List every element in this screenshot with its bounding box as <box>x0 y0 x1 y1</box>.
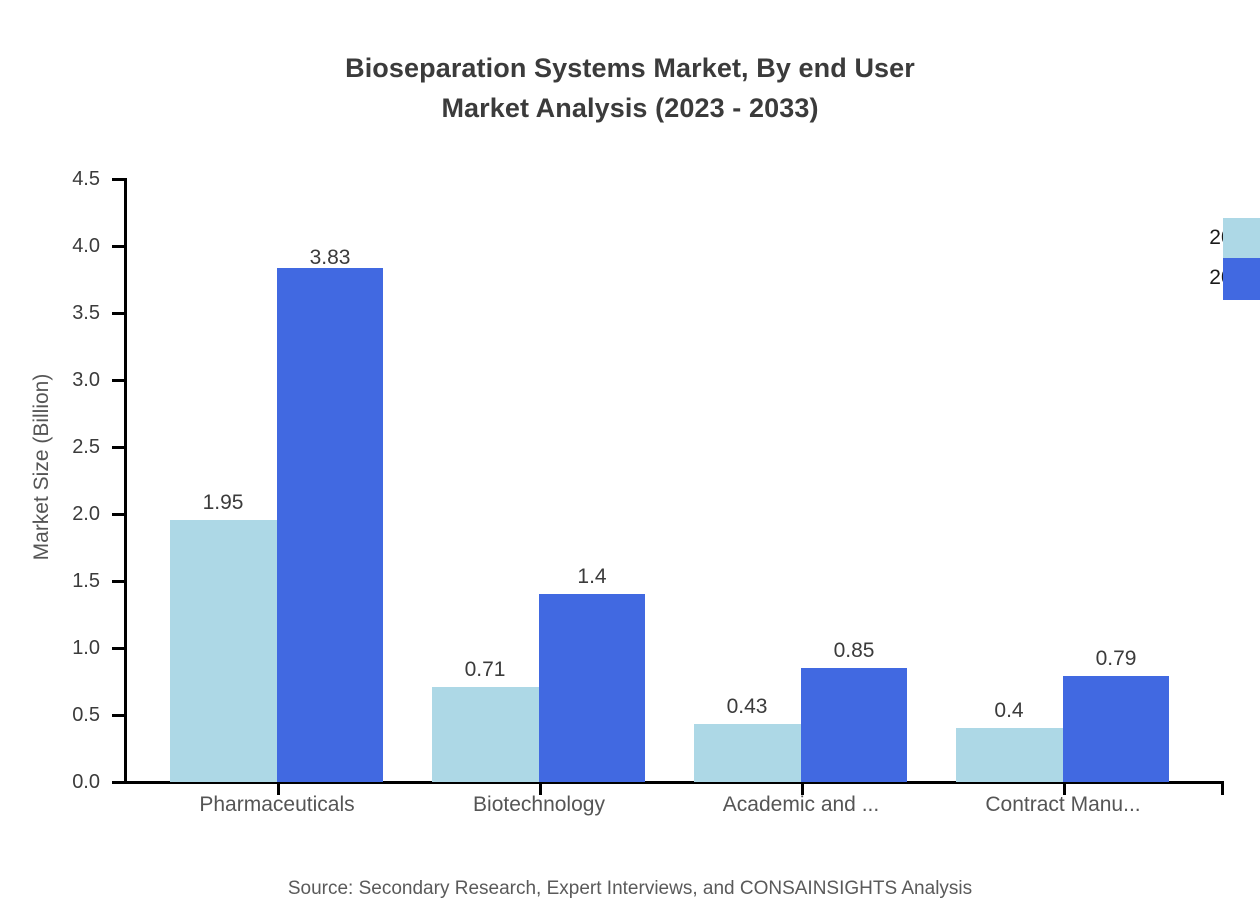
bar-2033-academic[interactable] <box>801 668 907 782</box>
y-tick-label-7: 3.5 <box>10 303 100 323</box>
legend-swatch-2033 <box>1223 258 1260 300</box>
bar-value-2033-pharmaceuticals: 3.83 <box>276 246 384 270</box>
y-tick-label-0: 0.0 <box>10 772 100 792</box>
bar-2023-contract-manufacturing[interactable] <box>956 728 1063 782</box>
bar-2023-pharmaceuticals[interactable] <box>170 520 277 782</box>
y-tick-label-6: 3.0 <box>10 370 100 390</box>
bar-2023-biotechnology[interactable] <box>432 687 539 782</box>
bar-2033-pharmaceuticals[interactable] <box>277 268 383 782</box>
chart-title-line-1: Bioseparation Systems Market, By end Use… <box>0 48 1260 88</box>
bar-value-2033-biotechnology: 1.4 <box>538 565 646 589</box>
x-tick-label-contract-manufacturing: Contract Manu... <box>903 793 1223 817</box>
bar-value-2023-biotechnology: 0.71 <box>431 658 539 682</box>
y-tick-label-9: 4.5 <box>10 169 100 189</box>
chart-title-line-2: Market Analysis (2023 - 2033) <box>0 88 1260 128</box>
bar-value-2033-contract-manufacturing: 0.79 <box>1062 647 1170 671</box>
bar-2033-contract-manufacturing[interactable] <box>1063 676 1169 782</box>
bar-value-2033-academic: 0.85 <box>800 639 908 663</box>
bar-2033-biotechnology[interactable] <box>539 594 645 782</box>
y-tick-label-3: 1.5 <box>10 571 100 591</box>
y-tick-label-1: 0.5 <box>10 705 100 725</box>
y-tick-label-2: 1.0 <box>10 638 100 658</box>
bar-2023-academic[interactable] <box>694 724 801 782</box>
bar-value-2023-contract-manufacturing: 0.4 <box>955 699 1063 723</box>
bar-chart: Bioseparation Systems Market, By end Use… <box>0 0 1260 920</box>
legend-entry-2023[interactable]: 2023 <box>1124 218 1260 260</box>
y-tick-label-5: 2.5 <box>10 437 100 457</box>
bar-value-2023-academic: 0.43 <box>693 695 801 719</box>
source-note: Source: Secondary Research, Expert Inter… <box>0 878 1260 900</box>
legend-entry-2033[interactable]: 2033 <box>1124 258 1260 300</box>
bar-value-2023-pharmaceuticals: 1.95 <box>169 491 277 515</box>
chart-title: Bioseparation Systems Market, By end Use… <box>0 48 1260 128</box>
plot-area: 1.95 3.83 0.71 1.4 0.43 0.85 0.4 0.79 <box>124 178 1224 782</box>
y-tick-label-4: 2.0 <box>10 504 100 524</box>
legend-swatch-2023 <box>1223 218 1260 260</box>
y-tick-label-8: 4.0 <box>10 236 100 256</box>
